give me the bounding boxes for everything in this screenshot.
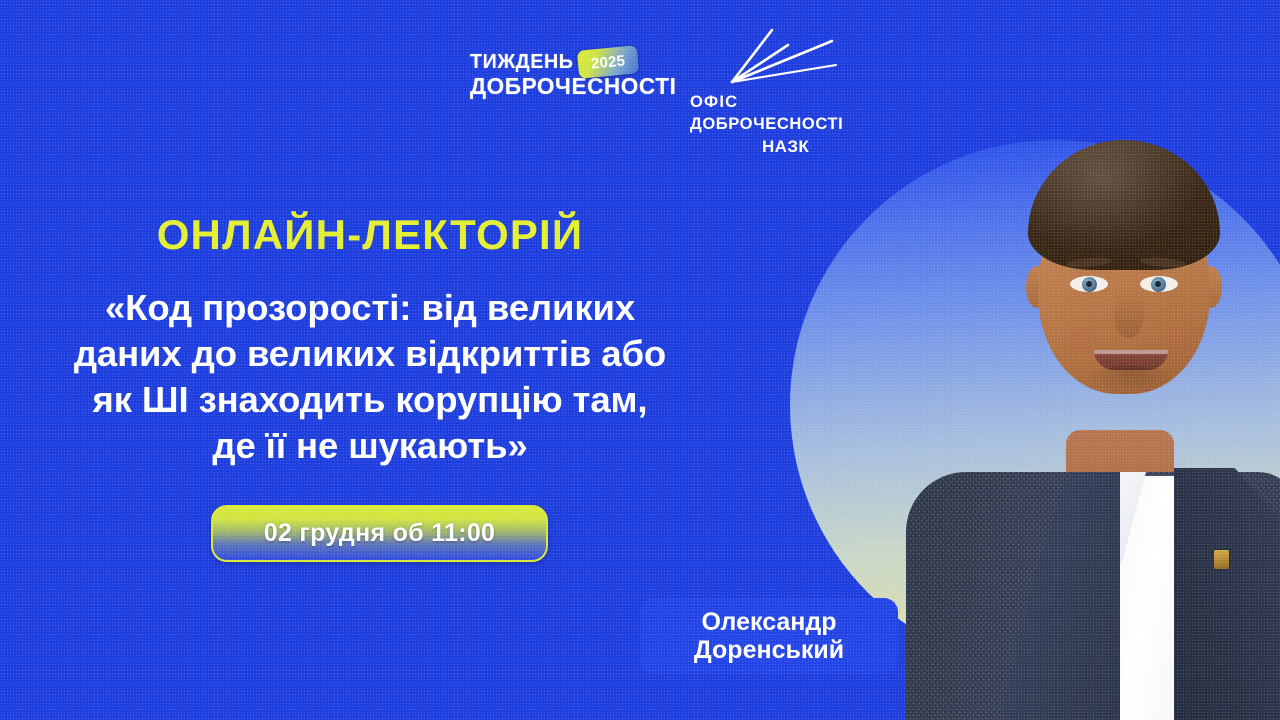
speaker-figure bbox=[878, 100, 1280, 720]
event-title: «Код прозорості: від великих даних до ве… bbox=[0, 285, 740, 469]
poster-content: ОНЛАЙН-ЛЕКТОРІЙ «Код прозорості: від вел… bbox=[0, 0, 740, 720]
pupil-right bbox=[1155, 281, 1161, 287]
pupil-left bbox=[1086, 281, 1092, 287]
jacket-lapel-right bbox=[1174, 468, 1280, 720]
event-title-line-2: даних до великих відкриттів або bbox=[0, 331, 740, 377]
speaker-first-name: Олександр bbox=[701, 608, 836, 636]
rays-icon bbox=[728, 28, 840, 86]
lapel-pin-icon bbox=[1214, 550, 1229, 569]
event-title-line-1: «Код прозорості: від великих bbox=[0, 285, 740, 331]
speaker-name-plate: Олександр Доренський bbox=[640, 598, 898, 674]
event-title-line-4: де її не шукають» bbox=[0, 423, 740, 469]
announcement-poster: ТИЖДЕНЬ ДОБРОЧЕСНОСТІ 2025 ОФІС ДОБРОЧЕС… bbox=[0, 0, 1280, 720]
speaker-last-name: Доренський bbox=[694, 636, 844, 664]
event-datetime-label: 02 грудня об 11:00 bbox=[264, 519, 496, 548]
event-datetime-badge: 02 грудня об 11:00 bbox=[211, 505, 548, 562]
chin bbox=[1084, 366, 1178, 396]
nose bbox=[1114, 294, 1144, 338]
hair-highlight bbox=[1028, 140, 1220, 270]
nazk-logo-line3: НАЗК bbox=[762, 138, 809, 155]
event-title-line-3: як ШІ знаходить корупцію там, bbox=[0, 377, 740, 423]
event-type-kicker: ОНЛАЙН-ЛЕКТОРІЙ bbox=[0, 211, 740, 259]
